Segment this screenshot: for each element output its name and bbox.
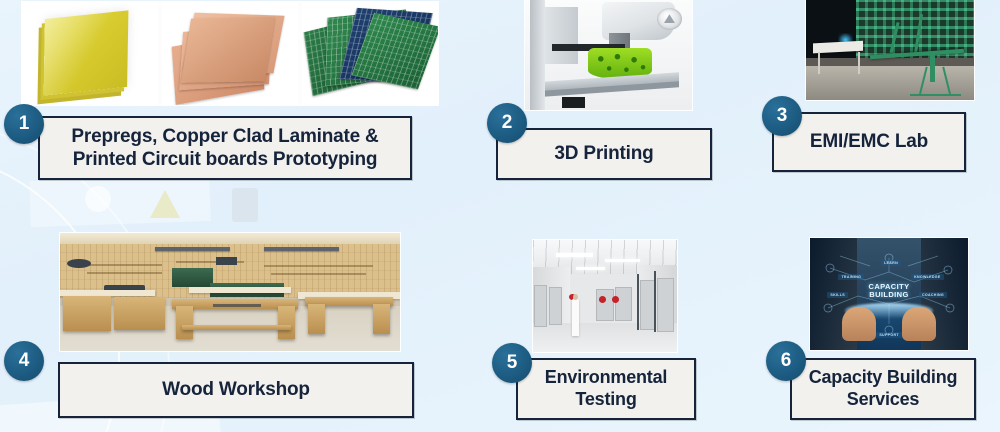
facility-label-4: Wood Workshop xyxy=(162,378,310,401)
background-faded-rectangle xyxy=(232,188,258,222)
capacity-tag-learn: LEARN xyxy=(881,260,901,266)
wood-workshop-photo xyxy=(60,233,400,351)
facility-label-5: EnvironmentalTesting xyxy=(545,367,667,411)
facility-label-box-4[interactable]: Wood Workshop xyxy=(58,362,414,418)
facility-label-box-1[interactable]: Prepregs, Copper Clad Laminate &Printed … xyxy=(38,116,412,180)
copper-clad-laminate-image xyxy=(162,2,298,105)
capacity-tag-skills: SKILLS xyxy=(827,292,848,298)
facility-label-box-5[interactable]: EnvironmentalTesting xyxy=(516,358,696,420)
facility-label-box-2[interactable]: 3D Printing xyxy=(496,128,712,180)
background-shape-mid-left xyxy=(29,175,210,227)
background-faded-triangle xyxy=(150,190,180,218)
capacity-building-headline: CAPACITYBUILDING xyxy=(864,283,915,308)
facility-number-badge-3: 3 xyxy=(762,96,802,136)
facility-number-badge-2: 2 xyxy=(487,103,527,143)
facility-number-badge-1: 1 xyxy=(4,104,44,144)
capacity-tag-training: TRAINING xyxy=(838,274,864,280)
facility-label-6: Capacity BuildingServices xyxy=(809,367,958,411)
3d-printer-photo xyxy=(525,0,692,110)
facility-number-badge-6: 6 xyxy=(766,341,806,381)
technician-figure xyxy=(572,298,579,336)
facility-label-box-6[interactable]: Capacity BuildingServices xyxy=(790,358,976,420)
printer-dial-icon xyxy=(657,8,682,30)
capacity-tag-support: SUPPORT xyxy=(876,332,901,338)
facility-label-1: Prepregs, Copper Clad Laminate &Printed … xyxy=(71,125,378,171)
capacity-tag-knowledge: KNOWLEDGE xyxy=(911,274,943,280)
prepreg-sheets-image xyxy=(22,2,158,105)
prepreg-ccl-pcb-triptych-photo xyxy=(22,2,438,105)
facility-number-badge-4: 4 xyxy=(4,341,44,381)
capacity-building-photo: CAPACITYBUILDING LEARN TRAINING KNOWLEDG… xyxy=(810,238,968,350)
environmental-test-corridor-photo xyxy=(533,240,677,352)
facility-label-3: EMI/EMC Lab xyxy=(810,130,928,153)
background-faded-circle xyxy=(85,186,111,212)
facility-number-badge-5: 5 xyxy=(492,343,532,383)
facility-label-2: 3D Printing xyxy=(554,142,653,165)
emi-emc-anechoic-chamber-photo xyxy=(806,0,974,100)
printed-circuit-boards-image xyxy=(302,2,438,105)
capacity-tag-coaching: COACHING xyxy=(919,292,947,298)
facilities-infographic: Prepregs, Copper Clad Laminate &Printed … xyxy=(0,0,1000,432)
antenna-tripod xyxy=(910,66,960,96)
